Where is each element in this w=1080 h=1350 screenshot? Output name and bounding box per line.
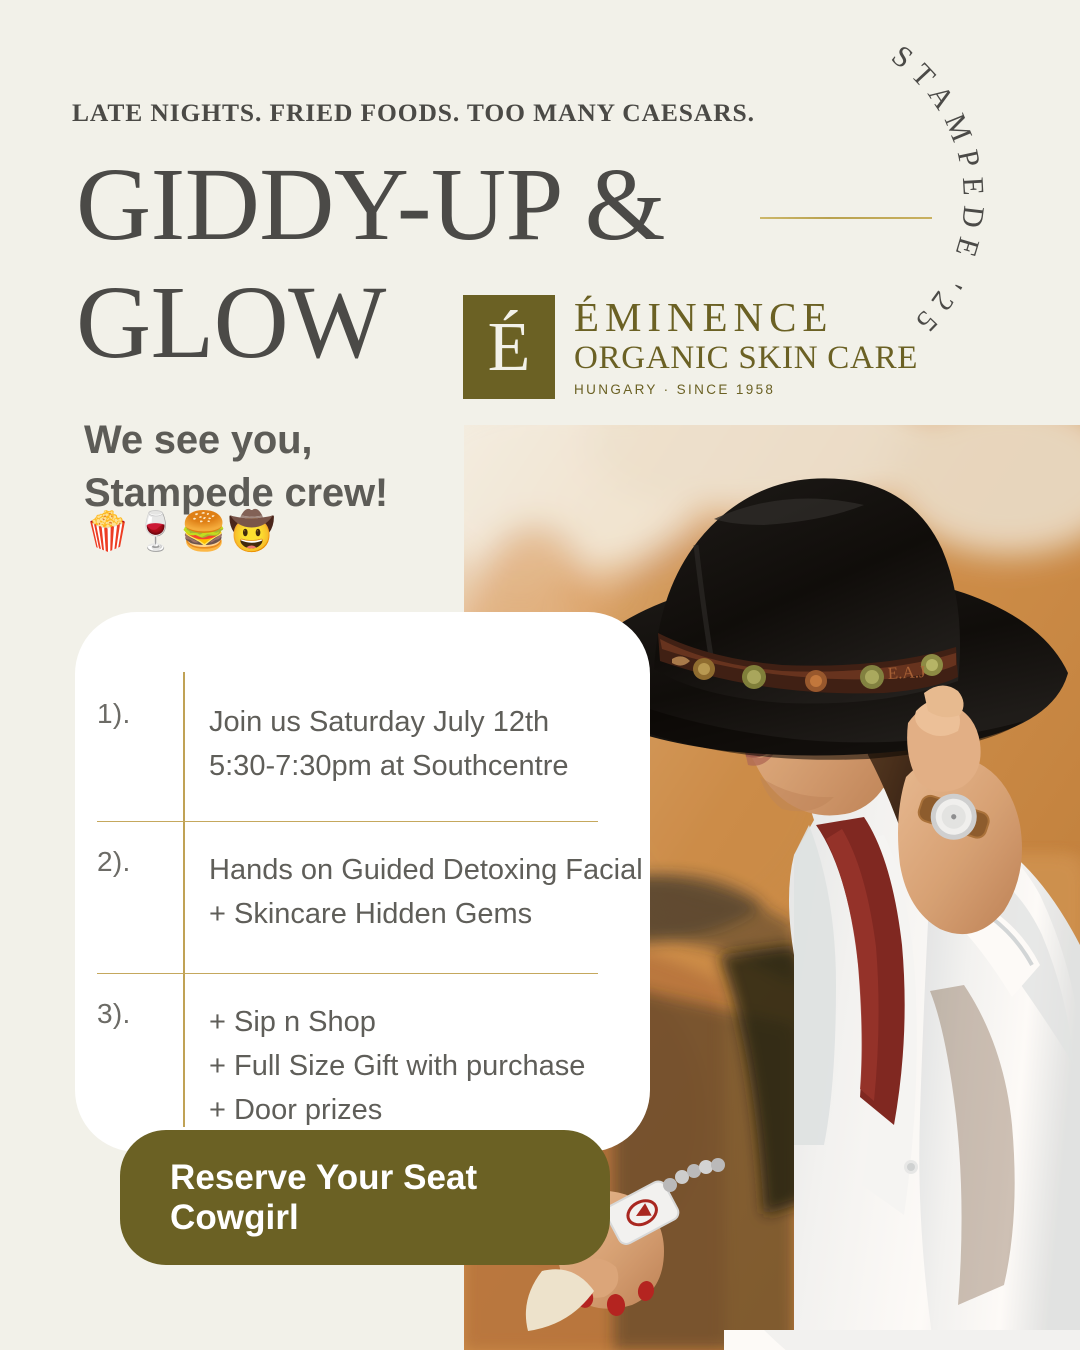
list-item: 2). Hands on Guided Detoxing Facial + Sk…: [75, 822, 650, 974]
list-item-text: Join us Saturday July 12th 5:30-7:30pm a…: [183, 672, 650, 822]
list-item-line: Hands on Guided Detoxing Facial: [209, 848, 650, 892]
list-item-text: Hands on Guided Detoxing Facial + Skinca…: [183, 822, 650, 974]
poster-canvas: E.A.J: [0, 0, 1080, 1350]
list-item-line: Join us Saturday July 12th: [209, 700, 650, 744]
list-item-number: 2).: [97, 822, 183, 974]
eyebrow-tagline: LATE NIGHTS. FRIED FOODS. TOO MANY CAESA…: [72, 98, 755, 128]
eminence-logo-wordmark: ÉMINENCE ORGANIC SKIN CARE HUNGARY · SIN…: [574, 297, 918, 397]
list-item-number: 1).: [97, 672, 183, 822]
details-list: 1). Join us Saturday July 12th 5:30-7:30…: [75, 672, 650, 1138]
list-item-line: + Skincare Hidden Gems: [209, 892, 650, 936]
list-item-line: + Sip n Shop: [209, 1000, 650, 1044]
emoji-row: 🍿🍷🍔🤠: [84, 512, 276, 554]
reserve-seat-button[interactable]: Reserve Your Seat Cowgirl: [120, 1130, 610, 1265]
eminence-brand-origin: HUNGARY · SINCE 1958: [574, 382, 918, 397]
subheadline: We see you, Stampede crew!: [84, 414, 388, 520]
headline-line-1: GIDDY-UP &: [76, 146, 665, 264]
list-item-line: + Full Size Gift with purchase: [209, 1044, 650, 1088]
eminence-logo-mark: É: [463, 295, 555, 399]
eminence-brand-descriptor: ORGANIC SKIN CARE: [574, 339, 918, 377]
eminence-brand-name: ÉMINENCE: [574, 297, 918, 339]
list-item-number: 3).: [97, 974, 183, 1138]
list-item-line: + Door prizes: [209, 1088, 650, 1132]
eminence-monogram: É: [488, 313, 531, 383]
list-item: 1). Join us Saturday July 12th 5:30-7:30…: [75, 672, 650, 822]
list-item: 3). + Sip n Shop + Full Size Gift with p…: [75, 974, 650, 1138]
list-item-line: 5:30-7:30pm at Southcentre: [209, 744, 650, 788]
details-card: 1). Join us Saturday July 12th 5:30-7:30…: [75, 612, 650, 1152]
subheadline-line-1: We see you,: [84, 414, 388, 467]
eminence-logo: É ÉMINENCE ORGANIC SKIN CARE HUNGARY · S…: [463, 295, 918, 399]
list-item-text: + Sip n Shop + Full Size Gift with purch…: [183, 974, 650, 1138]
